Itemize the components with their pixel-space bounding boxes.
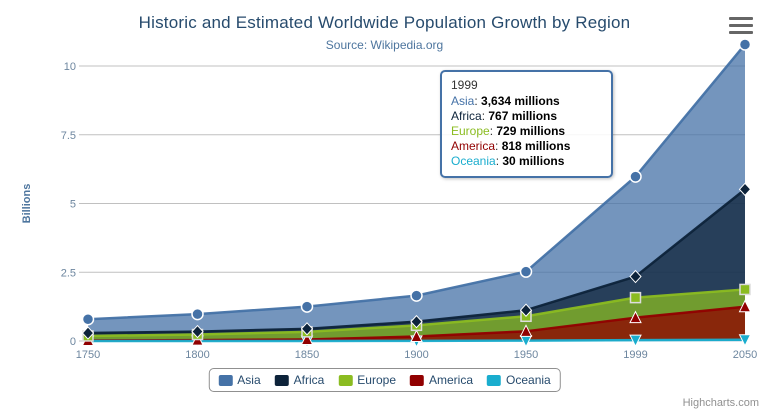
tooltip-row: Europe: 729 millions	[451, 124, 603, 139]
highcharts-container: Historic and Estimated Worldwide Populat…	[0, 0, 769, 416]
x-axis-tick-label: 1999	[623, 349, 647, 361]
y-axis-tick-label: 0	[70, 336, 76, 348]
x-axis-tick-label: 1800	[185, 349, 209, 361]
y-axis-tick-label: 2.5	[61, 267, 76, 279]
tooltip-row: Asia: 3,634 millions	[451, 94, 603, 109]
y-axis-tick-label: 5	[70, 199, 76, 211]
data-point-asia[interactable]	[192, 309, 203, 320]
legend-item-oceania[interactable]: Oceania	[487, 373, 551, 387]
tooltip-series-value: 3,634 millions	[481, 94, 560, 108]
legend-swatch-icon	[338, 375, 352, 386]
x-axis-tick-label: 2050	[733, 349, 757, 361]
tooltip-separator: :	[474, 94, 481, 108]
chart-tooltip: 1999 Asia: 3,634 millionsAfrica: 767 mil…	[440, 70, 613, 178]
data-point-asia[interactable]	[411, 290, 422, 301]
data-point-asia[interactable]	[630, 171, 641, 182]
tooltip-header: 1999	[451, 78, 603, 92]
tooltip-series-name: America	[451, 139, 495, 153]
tooltip-series-name: Oceania	[451, 154, 496, 168]
tooltip-series-name: Europe	[451, 124, 490, 138]
data-point-asia[interactable]	[521, 266, 532, 277]
data-point-asia[interactable]	[302, 301, 313, 312]
legend-swatch-icon	[275, 375, 289, 386]
tooltip-series-value: 767 millions	[488, 109, 557, 123]
tooltip-series-name: Asia	[451, 94, 474, 108]
tooltip-row: America: 818 millions	[451, 139, 603, 154]
tooltip-series-name: Africa	[451, 109, 482, 123]
data-point-europe[interactable]	[740, 284, 750, 294]
x-axis-tick-label: 1900	[404, 349, 428, 361]
tooltip-row: Africa: 767 millions	[451, 109, 603, 124]
legend-label: Oceania	[506, 373, 551, 387]
tooltip-series-value: 729 millions	[496, 124, 565, 138]
legend-item-africa[interactable]: Africa	[275, 373, 325, 387]
legend-item-europe[interactable]: Europe	[338, 373, 396, 387]
data-point-asia[interactable]	[83, 314, 94, 325]
legend-label: Africa	[294, 373, 325, 387]
y-axis-tick-label: 10	[64, 61, 76, 73]
chart-plot-area: 02.557.510Billions1750180018501900195019…	[0, 0, 769, 416]
y-axis-title: Billions	[21, 184, 33, 224]
tooltip-row: Oceania: 30 millions	[451, 154, 603, 169]
legend-items: AsiaAfricaEuropeAmericaOceania	[218, 373, 550, 387]
x-axis-tick-label: 1750	[76, 349, 100, 361]
legend-swatch-icon	[487, 375, 501, 386]
credits-link[interactable]: Highcharts.com	[683, 397, 759, 409]
legend-label: Europe	[357, 373, 396, 387]
chart-legend: AsiaAfricaEuropeAmericaOceania	[208, 368, 560, 392]
data-point-asia[interactable]	[740, 39, 751, 50]
x-axis-tick-label: 1950	[514, 349, 538, 361]
legend-swatch-icon	[410, 375, 424, 386]
legend-item-asia[interactable]: Asia	[218, 373, 260, 387]
tooltip-rows: Asia: 3,634 millionsAfrica: 767 millions…	[451, 94, 603, 169]
legend-swatch-icon	[218, 375, 232, 386]
legend-item-america[interactable]: America	[410, 373, 473, 387]
y-axis-tick-label: 7.5	[61, 130, 76, 142]
x-axis-tick-label: 1850	[295, 349, 319, 361]
tooltip-separator: :	[495, 139, 502, 153]
tooltip-series-value: 818 millions	[502, 139, 571, 153]
tooltip-series-value: 30 millions	[502, 154, 564, 168]
legend-label: Asia	[237, 373, 260, 387]
legend-label: America	[429, 373, 473, 387]
data-point-europe[interactable]	[631, 293, 641, 303]
